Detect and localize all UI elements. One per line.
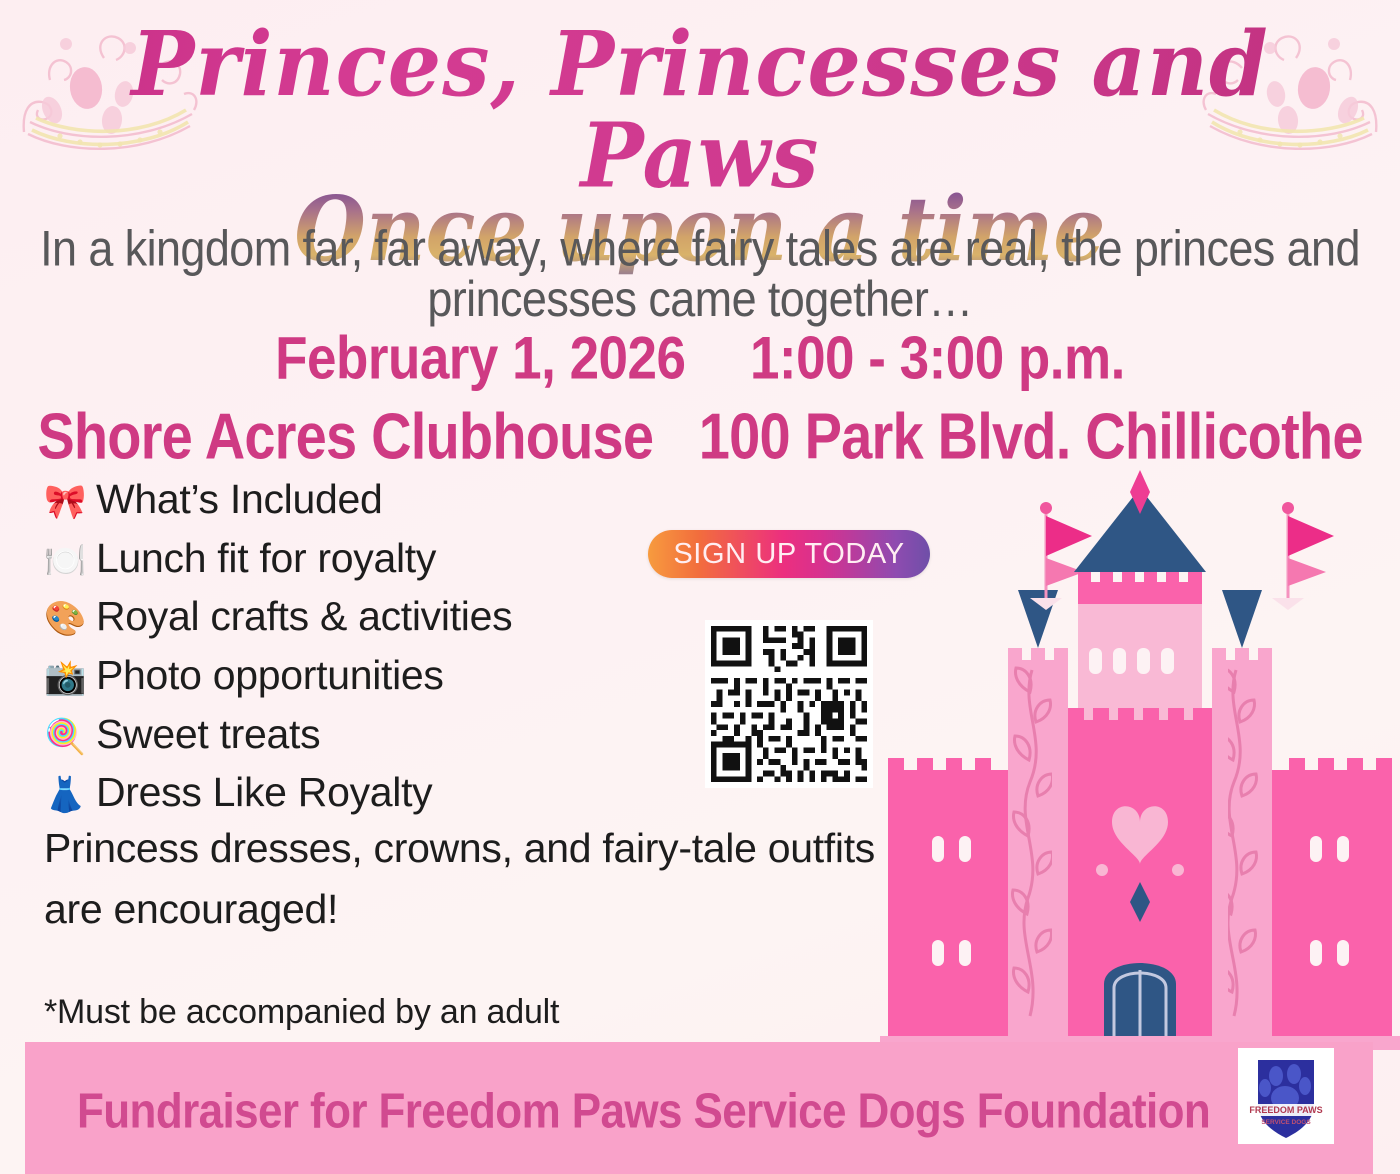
logo-line2: SERVICE DOGS xyxy=(1261,1119,1311,1126)
venue-address: 100 Park Blvd. Chillicothe xyxy=(699,399,1363,472)
castle-upper-keep xyxy=(1074,470,1206,720)
flyer-title: Princes, Princesses and Paws xyxy=(0,19,1400,201)
adult-supervision-note: *Must be accompanied by an adult xyxy=(44,993,559,1032)
list-item: 🎀 What’s Included xyxy=(44,470,664,529)
list-item-label: What’s Included xyxy=(96,470,382,529)
castle-illustration xyxy=(880,470,1400,1050)
tagline-text: In a kingdom far, far away, where fairy … xyxy=(26,224,1374,324)
list-item: 👗 Dress Like Royalty xyxy=(44,763,664,822)
list-item: 🍽️ Lunch fit for royalty xyxy=(44,529,664,588)
castle-right-wing xyxy=(1272,758,1392,1040)
lollipop-icon: 🍭 xyxy=(44,720,96,754)
event-time: 1:00 - 3:00 p.m. xyxy=(750,325,1125,392)
list-item: 📸 Photo opportunities xyxy=(44,646,664,705)
flyer-poster: Princes, Princesses and Paws Once upon a… xyxy=(0,0,1400,1174)
camera-flash-icon: 📸 xyxy=(44,661,96,695)
list-item-label: Sweet treats xyxy=(96,705,320,764)
event-datetime: February 1, 2026 1:00 - 3:00 p.m. xyxy=(0,324,1400,394)
list-item-label: Lunch fit for royalty xyxy=(96,529,436,588)
fundraiser-banner: Fundraiser for Freedom Paws Service Dogs… xyxy=(25,1042,1373,1174)
castle-left-wing xyxy=(888,758,1008,1040)
list-item-label: Photo opportunities xyxy=(96,646,444,705)
included-list: 🎀 What’s Included 🍽️ Lunch fit for royal… xyxy=(44,470,664,822)
venue-name: Shore Acres Clubhouse xyxy=(37,399,653,472)
dress-code-paragraph: Princess dresses, crowns, and fairy-tale… xyxy=(44,818,904,939)
event-date: February 1, 2026 xyxy=(275,325,685,392)
logo-line1: FREEDOM PAWS xyxy=(1249,1105,1322,1115)
registration-qr-code[interactable] xyxy=(705,620,873,788)
castle-central-keep xyxy=(1068,708,1212,1040)
dress-icon: 👗 xyxy=(44,778,96,812)
event-venue: Shore Acres Clubhouse 100 Park Blvd. Chi… xyxy=(0,398,1400,473)
list-item-label: Royal crafts & activities xyxy=(96,587,512,646)
freedom-paws-logo: FREEDOM PAWS SERVICE DOGS xyxy=(1238,1048,1334,1144)
list-item: 🍭 Sweet treats xyxy=(44,705,664,764)
fork-and-knife-icon: 🍽️ xyxy=(44,544,96,578)
list-item-label: Dress Like Royalty xyxy=(96,763,432,822)
fundraiser-banner-text: Fundraiser for Freedom Paws Service Dogs… xyxy=(77,1084,1210,1140)
sign-up-button-label: SIGN UP TODAY xyxy=(673,538,904,571)
list-item: 🎨 Royal crafts & activities xyxy=(44,587,664,646)
ribbon-bow-icon: 🎀 xyxy=(44,485,96,519)
artist-palette-icon: 🎨 xyxy=(44,602,96,636)
